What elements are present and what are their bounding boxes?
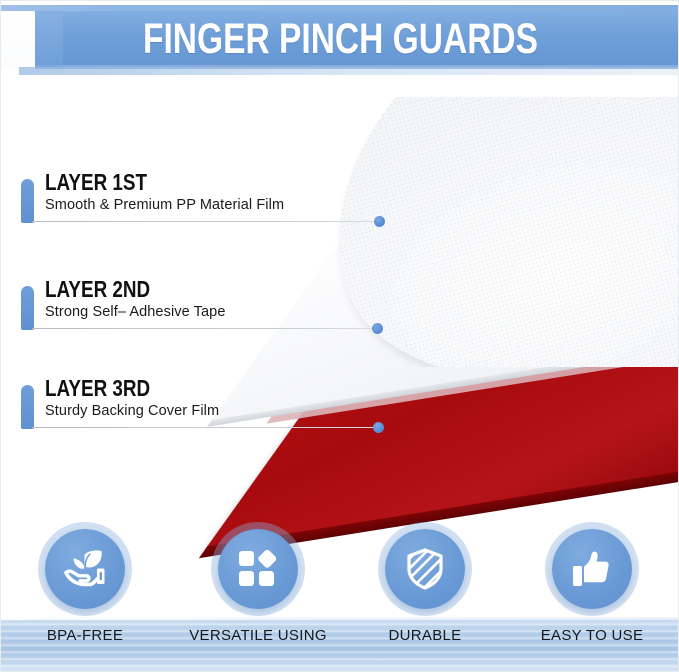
feature-item-easy-to-use: EASY TO USE (508, 529, 676, 609)
feature-icon-circle (385, 529, 465, 609)
shield-icon (405, 547, 445, 591)
product-layer-pp-film (331, 97, 679, 367)
callout-subtitle: Strong Self– Adhesive Tape (45, 304, 226, 320)
feature-icon-circle (552, 529, 632, 609)
banner-left-accent (35, 13, 63, 67)
feature-item-bpa-free: BPA-FREE (1, 529, 169, 609)
callout-title: LAYER 2ND (45, 276, 150, 303)
callout-accent-bar (21, 179, 34, 223)
callout-subtitle: Sturdy Backing Cover Film (45, 403, 219, 419)
thumbs-up-icon (571, 548, 613, 590)
callout-marker-dot (374, 216, 385, 227)
hand-leaf-icon (62, 548, 108, 590)
feature-label: EASY TO USE (508, 627, 676, 644)
feature-icon-circle (218, 529, 298, 609)
feature-strip: BPA-FREE VERSATILE USING (1, 529, 679, 672)
callout-leader-line (32, 427, 378, 428)
callout-title: LAYER 3RD (45, 375, 150, 402)
callout-leader-line (32, 328, 377, 329)
four-squares-icon (237, 548, 279, 590)
callout-accent-bar (21, 385, 34, 429)
banner-shadow-strip (19, 67, 679, 75)
callout-accent-bar (21, 286, 34, 330)
callout-marker-dot (373, 422, 384, 433)
feature-label: BPA-FREE (1, 627, 169, 644)
page-title: FINGER PINCH GUARDS (76, 15, 606, 63)
callout-marker-dot (372, 323, 383, 334)
feature-label-band (1, 617, 679, 672)
feature-icon-circle (45, 529, 125, 609)
feature-label: VERSATILE USING (174, 627, 342, 644)
banner-left-notch (1, 11, 35, 69)
product-infographic: FINGER PINCH GUARDS LAYER 1ST Smooth & P… (0, 0, 679, 672)
product-layer-pp-film-texture (331, 97, 679, 367)
product-illustration (331, 97, 679, 517)
product-layer-pp-film-clip (331, 97, 679, 367)
feature-item-durable: DURABLE (341, 529, 509, 609)
callout-leader-line (32, 221, 379, 222)
header-banner: FINGER PINCH GUARDS (1, 1, 679, 87)
callout-title: LAYER 1ST (45, 169, 147, 196)
feature-label: DURABLE (341, 627, 509, 644)
callout-subtitle: Smooth & Premium PP Material Film (45, 197, 284, 213)
feature-item-versatile-using: VERSATILE USING (174, 529, 342, 609)
